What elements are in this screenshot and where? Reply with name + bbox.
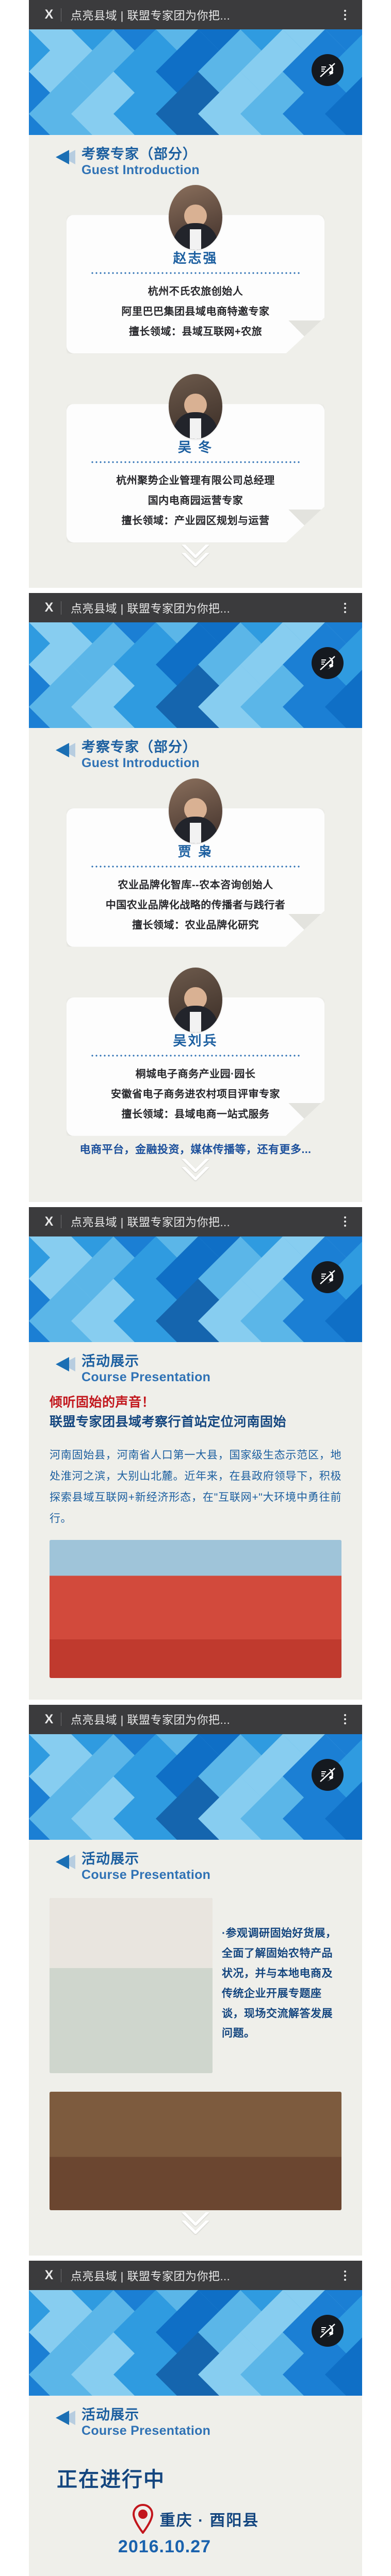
diamond-banner (29, 622, 362, 728)
expert-detail-line: 中国农业品牌化战略的传播者与践行者 (77, 895, 314, 916)
section-title-cn: 活动展示 (82, 1353, 210, 1370)
screenshot-guests-2: X点亮县域 | 联盟专家团为你把...考察专家（部分）Guest Introdu… (0, 593, 391, 1201)
section-title-en: Course Presentation (82, 1370, 210, 1385)
page-title: 点亮县域 | 联盟专家团为你把... (61, 7, 336, 23)
divider (90, 1054, 301, 1057)
triangle-bullet-icon (56, 150, 69, 164)
close-icon[interactable]: X (37, 1713, 61, 1726)
section-title-en: Course Presentation (82, 1868, 210, 1883)
expert-detail-line: 擅长领域：县域电商一站式服务 (77, 1105, 314, 1125)
article-page: X点亮县域 | 联盟专家团为你把...考察专家（部分）Guest Introdu… (0, 0, 391, 2576)
body-paragraph: 河南固始县，河南省人口第一大县，国家级生态示范区，地处淮河之滨，大别山北麓。近年… (50, 1445, 341, 1530)
expert-card: 赵志强杭州不氏农旅创始人阿里巴巴集团县域电商特邀专家擅长领域：县域互联网+农旅 (67, 185, 324, 353)
expert-detail-line: 安徽省电子商务进农村项目评审专家 (77, 1084, 314, 1105)
expert-name: 吴 冬 (77, 437, 314, 456)
wechat-top-bar: X点亮县域 | 联盟专家团为你把... (29, 593, 362, 622)
page-fold-decoration (285, 320, 324, 353)
section-title-cn: 活动展示 (82, 2407, 210, 2424)
page-title: 点亮县域 | 联盟专家团为你把... (61, 600, 336, 616)
expert-card: 吴刘兵桐城电子商务产业园·园长安徽省电子商务进农村项目评审专家擅长领域：县域电商… (67, 968, 324, 1136)
status-block: 正在进行中重庆 · 酉阳县2016.10.27 (29, 2439, 362, 2557)
divider (90, 865, 301, 868)
expert-name: 贾 枭 (77, 841, 314, 860)
event-date: 2016.10.27 (57, 2537, 334, 2557)
diamond-banner (29, 1734, 362, 1840)
headline-red: 倾听固始的声音！ (50, 1393, 341, 1413)
expert-detail-line: 杭州聚势企业管理有限公司总经理 (77, 471, 314, 491)
avatar (169, 968, 222, 1032)
expert-detail-line: 擅长领域：县域互联网+农旅 (77, 322, 314, 342)
wechat-top-bar: X点亮县域 | 联盟专家团为你把... (29, 1705, 362, 1734)
triangle-bullet-icon (56, 1855, 69, 1869)
expert-detail-line: 桐城电子商务产业园·园长 (77, 1064, 314, 1084)
diamond-banner (29, 1236, 362, 1342)
screenshot-guests-1: X点亮县域 | 联盟专家团为你把...考察专家（部分）Guest Introdu… (0, 0, 391, 588)
expert-card: 贾 枭农业品牌化智库--农本咨询创始人中国农业品牌化战略的传播者与践行者擅长领域… (67, 778, 324, 947)
avatar (169, 778, 222, 843)
status-badge: 正在进行中 (57, 2463, 334, 2493)
avatar (169, 374, 222, 439)
section-title-cn: 考察专家（部分） (82, 739, 200, 756)
brand-logo-icon (312, 1261, 344, 1293)
diamond-banner (29, 2290, 362, 2396)
expert-detail-line: 擅长领域：产业园区规划与运营 (77, 511, 314, 531)
wechat-top-bar: X点亮县域 | 联盟专家团为你把... (29, 1207, 362, 1236)
wechat-top-bar: X点亮县域 | 联盟专家团为你把... (29, 0, 362, 29)
section-heading: 活动展示Course Presentation (29, 1342, 362, 1385)
diamond-banner (29, 29, 362, 135)
more-options-icon[interactable] (336, 603, 354, 613)
scroll-up-chevron-icon (29, 544, 362, 566)
headline-blue: 联盟专家团县域考察行首站定位河南固始 (50, 1413, 341, 1432)
more-options-icon[interactable] (336, 1216, 354, 1227)
expert-detail-line: 农业品牌化智库--农本咨询创始人 (77, 875, 314, 895)
more-options-icon[interactable] (336, 1714, 354, 1724)
scroll-up-chevron-icon (29, 2211, 362, 2234)
expert-detail-line: 国内电商园运营专家 (77, 491, 314, 511)
section-title-en: Guest Introduction (82, 163, 200, 178)
activity-description: ·参观调研固始好货展，全面了解固始农特产品状况，并与本地电商及传统企业开展专题座… (222, 1898, 341, 2044)
close-icon[interactable]: X (37, 2269, 61, 2282)
expert-name: 吴刘兵 (77, 1030, 314, 1049)
screenshot-course-1: X点亮县域 | 联盟专家团为你把...活动展示Course Presentati… (0, 1207, 391, 1700)
brand-logo-icon (312, 1759, 344, 1791)
expedition-photo (50, 1540, 341, 1678)
page-title: 点亮县域 | 联盟专家团为你把... (61, 1711, 336, 1727)
brand-logo-icon (312, 647, 344, 679)
expert-detail-line: 阿里巴巴集团县域电商特邀专家 (77, 302, 314, 322)
screenshot-course-2: X点亮县域 | 联盟专家团为你把...活动展示Course Presentati… (0, 1705, 391, 2256)
section-title-en: Course Presentation (82, 2424, 210, 2439)
divider (90, 461, 301, 464)
close-icon[interactable]: X (37, 8, 61, 21)
section-title-cn: 活动展示 (82, 1851, 210, 1868)
scroll-up-chevron-icon (29, 1158, 362, 1180)
expert-card: 吴 冬杭州聚势企业管理有限公司总经理国内电商园运营专家擅长领域：产业园区规划与运… (67, 374, 324, 543)
more-options-icon[interactable] (336, 2270, 354, 2281)
section-heading: 活动展示Course Presentation (29, 2396, 362, 2438)
page-fold-decoration (285, 510, 324, 543)
page-title: 点亮县域 | 联盟专家团为你把... (61, 2267, 336, 2284)
brand-logo-icon (312, 2315, 344, 2347)
location-pin-icon (132, 2504, 154, 2534)
more-partners-note: 电商平台，金融投资，媒体传播等，还有更多... (29, 1136, 362, 1157)
avatar (169, 185, 222, 250)
divider (90, 272, 301, 275)
wechat-top-bar: X点亮县域 | 联盟专家团为你把... (29, 2261, 362, 2290)
brand-logo-icon (312, 54, 344, 86)
close-icon[interactable]: X (37, 1215, 61, 1228)
section-heading: 考察专家（部分）Guest Introduction (29, 135, 362, 178)
location-name: 重庆 · 酉阳县 (160, 2507, 259, 2530)
status-block: 持续进行山东 · 齐河县2016.11.9 (29, 2557, 362, 2576)
triangle-bullet-icon (56, 2411, 69, 2425)
close-icon[interactable]: X (37, 601, 61, 614)
page-title: 点亮县域 | 联盟专家团为你把... (61, 1213, 336, 1230)
expert-name: 赵志强 (77, 248, 314, 267)
screenshot-course-3: X点亮县域 | 联盟专家团为你把...活动展示Course Presentati… (0, 2261, 391, 2576)
triangle-bullet-icon (56, 1357, 69, 1371)
page-fold-decoration (285, 914, 324, 947)
section-heading: 考察专家（部分）Guest Introduction (29, 728, 362, 771)
section-heading: 活动展示Course Presentation (29, 1840, 362, 1883)
product-display-photo (50, 1898, 213, 2073)
section-title-cn: 考察专家（部分） (82, 146, 200, 163)
more-options-icon[interactable] (336, 10, 354, 20)
seminar-photo (50, 2092, 341, 2210)
expert-detail-line: 杭州不氏农旅创始人 (77, 282, 314, 302)
page-fold-decoration (285, 1103, 324, 1136)
section-title-en: Guest Introduction (82, 756, 200, 771)
triangle-bullet-icon (56, 743, 69, 757)
expert-detail-line: 擅长领域：农业品牌化研究 (77, 916, 314, 936)
